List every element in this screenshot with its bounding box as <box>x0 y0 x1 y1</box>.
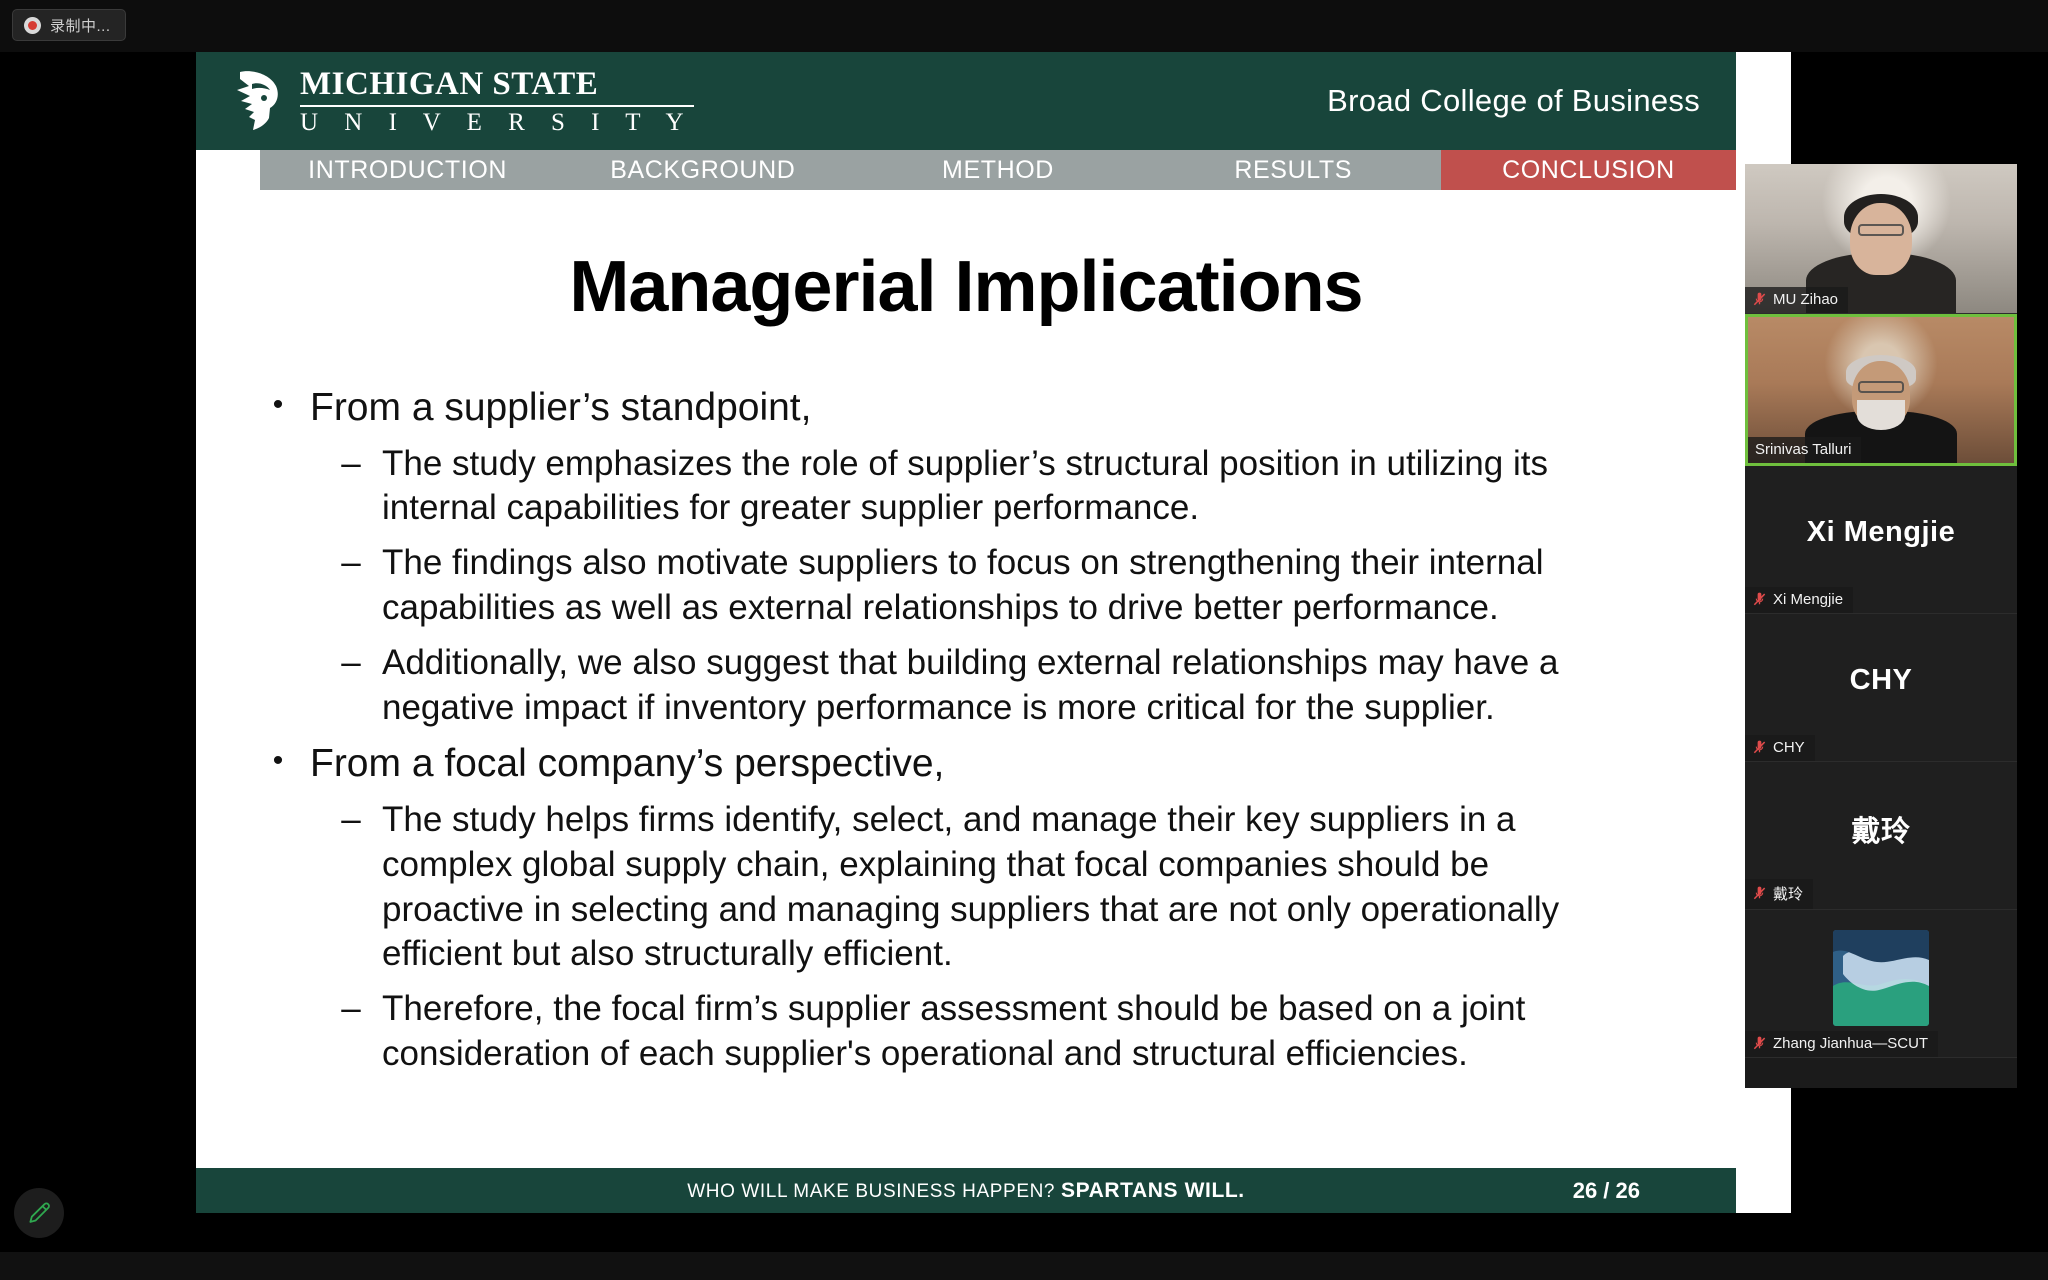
participant-tile-dai-ling[interactable]: 戴玲 戴玲 <box>1745 762 2017 910</box>
recording-label: 录制中... <box>50 15 111 36</box>
nav-item-conclusion[interactable]: CONCLUSION <box>1441 150 1736 190</box>
recording-indicator[interactable]: 录制中... <box>12 9 126 41</box>
list-item: – Additionally, we also suggest that bui… <box>340 641 1668 731</box>
participant-name: Xi Mengjie <box>1773 591 1843 608</box>
presentation-slide: MICHIGAN STATE U N I V E R S I T Y Broad… <box>196 52 1791 1213</box>
footer-tagline: WHO WILL MAKE BUSINESS HAPPEN? SPARTANS … <box>687 1179 1244 1203</box>
slide-page-number: 26 / 26 <box>1573 1178 1640 1204</box>
list-item: • From a supplier’s standpoint, <box>268 384 1668 432</box>
logo-line-2: U N I V E R S I T Y <box>300 110 694 135</box>
bullet-text: From a supplier’s standpoint, <box>310 384 811 432</box>
list-item: • From a focal company’s perspective, <box>268 740 1668 788</box>
screen: 录制中... MICHIGAN STATE U N I V E R S I T … <box>0 0 2048 1280</box>
participant-name-tag: CHY <box>1745 735 1815 761</box>
list-item: – The study helps firms identify, select… <box>340 798 1668 977</box>
participant-tile-xi-mengjie[interactable]: Xi Mengjie Xi Mengjie <box>1745 466 2017 614</box>
slide-section-nav: INTRODUCTION BACKGROUND METHOD RESULTS C… <box>260 150 1736 190</box>
record-dot-icon <box>24 17 41 34</box>
nav-item-method[interactable]: METHOD <box>850 150 1145 190</box>
list-item: – The findings also motivate suppliers t… <box>340 541 1668 631</box>
avatar-image <box>1833 930 1929 1026</box>
list-item: – The study emphasizes the role of suppl… <box>340 442 1668 532</box>
bullet-text: From a focal company’s perspective, <box>310 740 944 788</box>
annotate-button[interactable] <box>14 1188 64 1238</box>
bullet-text: The findings also motivate suppliers to … <box>382 541 1614 631</box>
bullet-text: Therefore, the focal firm’s supplier ass… <box>382 987 1614 1077</box>
participant-tile-srinivas-talluri[interactable]: Srinivas Talluri <box>1745 314 2017 466</box>
mic-muted-icon <box>1752 292 1767 307</box>
dash-marker: – <box>340 641 362 686</box>
bullet-list: • From a supplier’s standpoint, – The st… <box>268 384 1668 1077</box>
participant-name: Srinivas Talluri <box>1755 441 1851 458</box>
footer-tagline-plain: WHO WILL MAKE BUSINESS HAPPEN? <box>687 1181 1061 1202</box>
dash-marker: – <box>340 442 362 487</box>
participant-name: MU Zihao <box>1773 291 1838 308</box>
participant-name: Zhang Jianhua—SCUT <box>1773 1035 1928 1052</box>
spartan-helmet-icon <box>228 70 286 132</box>
page-title: Managerial Implications <box>196 246 1736 328</box>
pen-annotate-icon <box>26 1200 52 1226</box>
college-title: Broad College of Business <box>1327 83 1736 119</box>
slide-brand-band: MICHIGAN STATE U N I V E R S I T Y Broad… <box>196 52 1736 150</box>
footer-tagline-bold: SPARTANS WILL. <box>1061 1179 1245 1202</box>
dash-marker: – <box>340 987 362 1032</box>
nav-item-background[interactable]: BACKGROUND <box>555 150 850 190</box>
bullet-text: Additionally, we also suggest that build… <box>382 641 1614 731</box>
top-bar: 录制中... <box>0 0 2048 52</box>
participant-name: CHY <box>1773 739 1805 756</box>
msu-logo: MICHIGAN STATE U N I V E R S I T Y <box>196 68 694 135</box>
participant-name-tag: Srinivas Talluri <box>1748 437 1861 463</box>
list-item: – Therefore, the focal firm’s supplier a… <box>340 987 1668 1077</box>
avatar <box>1833 930 1929 1026</box>
participant-name: 戴玲 <box>1773 883 1803 904</box>
participant-name-tag: Xi Mengjie <box>1745 587 1853 613</box>
participant-name-tag: Zhang Jianhua—SCUT <box>1745 1031 1938 1057</box>
bullet-text: The study emphasizes the role of supplie… <box>382 442 1614 532</box>
mic-muted-icon <box>1752 1036 1767 1051</box>
slide-footer: WHO WILL MAKE BUSINESS HAPPEN? SPARTANS … <box>196 1168 1736 1213</box>
participant-name-tag: 戴玲 <box>1745 879 1813 909</box>
participant-strip: MU Zihao Srinivas Talluri Xi Mengjie <box>1745 164 2017 1088</box>
bullet-text: The study helps firms identify, select, … <box>382 798 1614 977</box>
bullet-marker: • <box>268 384 288 426</box>
dash-marker: – <box>340 798 362 843</box>
participant-tile-chy[interactable]: CHY CHY <box>1745 614 2017 762</box>
logo-line-1: MICHIGAN STATE <box>300 68 694 101</box>
mic-muted-icon <box>1752 592 1767 607</box>
mic-muted-icon <box>1752 740 1767 755</box>
bullet-marker: • <box>268 740 288 782</box>
slide-body: Managerial Implications • From a supplie… <box>196 190 1736 1168</box>
participant-tile-zhang-jianhua[interactable]: Zhang Jianhua—SCUT <box>1745 910 2017 1058</box>
nav-item-introduction[interactable]: INTRODUCTION <box>260 150 555 190</box>
participant-name-tag: MU Zihao <box>1745 287 1848 313</box>
nav-item-results[interactable]: RESULTS <box>1146 150 1441 190</box>
dash-marker: – <box>340 541 362 586</box>
logo-divider <box>300 105 694 107</box>
mic-muted-icon <box>1752 886 1767 901</box>
participant-tile-mu-zihao[interactable]: MU Zihao <box>1745 164 2017 314</box>
bottom-black-strip <box>0 1252 2048 1280</box>
